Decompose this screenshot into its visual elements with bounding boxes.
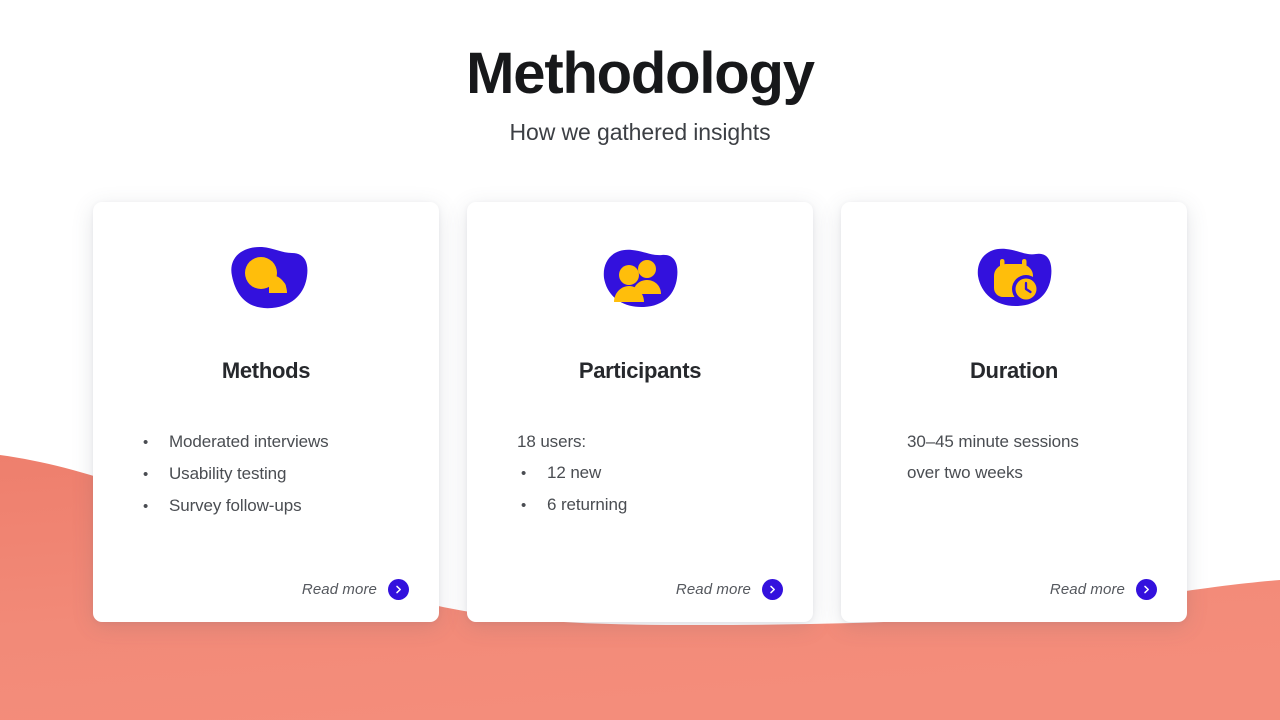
read-more-link[interactable]: Read more: [1050, 579, 1157, 600]
methods-overlapping-shapes-icon: [218, 240, 314, 316]
list-item-label: 6 returning: [547, 489, 627, 520]
list-item: • Usability testing: [143, 458, 286, 490]
bullet-glyph: •: [143, 459, 169, 490]
card-body: • Moderated interviews • Usability testi…: [119, 426, 413, 522]
list-item: • Survey follow-ups: [143, 490, 301, 522]
chevron-right-icon[interactable]: [1136, 579, 1157, 600]
card-participants[interactable]: Participants 18 users: • 12 new • 6 retu…: [467, 202, 813, 622]
card-text-line: over two weeks: [907, 457, 1023, 488]
chevron-right-icon[interactable]: [762, 579, 783, 600]
card-lead-text: 18 users:: [517, 426, 586, 457]
cards-row: Methods • Moderated interviews • Usabili…: [93, 202, 1187, 622]
read-more-link[interactable]: Read more: [676, 579, 783, 600]
read-more-label: Read more: [1050, 581, 1125, 598]
slide-canvas: Methodology How we gathered insights Met…: [0, 0, 1280, 720]
list-item-label: 12 new: [547, 457, 601, 488]
list-item-label: Usability testing: [169, 458, 286, 489]
list-item-label: Moderated interviews: [169, 426, 329, 457]
page-subtitle: How we gathered insights: [0, 119, 1280, 146]
duration-calendar-clock-icon: [966, 240, 1062, 316]
list-item: • Moderated interviews: [143, 426, 329, 458]
card-body: 18 users: • 12 new • 6 returning: [493, 426, 787, 521]
bullet-glyph: •: [143, 491, 169, 522]
card-title: Methods: [222, 358, 310, 384]
page-title: Methodology: [0, 44, 1280, 105]
bullet-glyph: •: [521, 458, 547, 489]
list-item-label: Survey follow-ups: [169, 490, 301, 521]
card-text-line: 30–45 minute sessions: [907, 426, 1079, 457]
list-item: • 6 returning: [517, 489, 627, 521]
card-title: Duration: [970, 358, 1058, 384]
chevron-right-icon[interactable]: [388, 579, 409, 600]
card-body: 30–45 minute sessions over two weeks: [867, 426, 1161, 488]
read-more-link[interactable]: Read more: [302, 579, 409, 600]
bullet-glyph: •: [521, 490, 547, 521]
card-duration[interactable]: Duration 30–45 minute sessions over two …: [841, 202, 1187, 622]
read-more-label: Read more: [302, 581, 377, 598]
bullet-glyph: •: [143, 427, 169, 458]
list-item: • 12 new: [517, 457, 601, 489]
slide-header: Methodology How we gathered insights: [0, 44, 1280, 146]
card-title: Participants: [579, 358, 701, 384]
participants-users-group-icon: [592, 240, 688, 316]
card-methods[interactable]: Methods • Moderated interviews • Usabili…: [93, 202, 439, 622]
read-more-label: Read more: [676, 581, 751, 598]
